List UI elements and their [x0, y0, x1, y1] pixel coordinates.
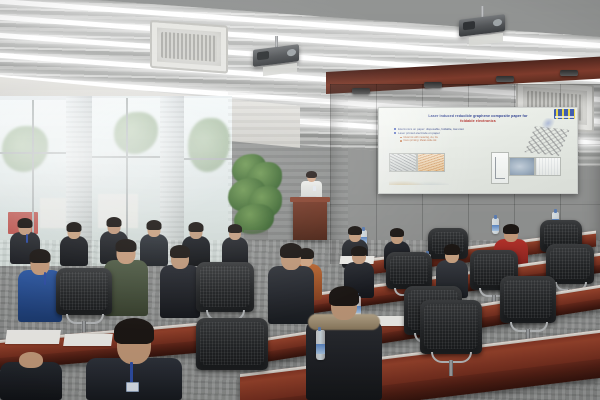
presenter-badge [313, 186, 316, 191]
attendee-hair [329, 286, 359, 306]
attendee [222, 224, 248, 266]
attendee [60, 222, 88, 266]
attendee-hair [114, 318, 154, 344]
attendee [160, 246, 200, 318]
slide-content: Laser induced reducible graphene composi… [379, 108, 577, 193]
attendee-torso [60, 236, 88, 266]
attendee-hair [444, 244, 460, 255]
attendee-head [19, 352, 43, 368]
water-bottle [316, 330, 325, 360]
recessed-ceiling-light [424, 82, 442, 88]
lanyard [130, 362, 133, 384]
university-logo-icon [554, 109, 575, 119]
projection-screen: Laser induced reducible graphene composi… [378, 107, 578, 194]
slide-figure-sem [389, 153, 417, 172]
attendee-torso [160, 265, 200, 318]
slide-figure-curve [389, 176, 449, 185]
attendee-hair [170, 245, 190, 258]
chair-mesh [424, 304, 478, 349]
lanyard [26, 234, 28, 243]
recessed-ceiling-light [560, 70, 578, 76]
chair-mesh [200, 266, 250, 307]
outdoor-foliage [114, 112, 158, 154]
recessed-ceiling-light [496, 76, 514, 82]
screen-surface: Laser induced reducible graphene composi… [379, 108, 577, 193]
slide-figure-panels [387, 153, 571, 187]
attendee-hair [280, 243, 302, 258]
ac-vent [150, 20, 228, 74]
chair-mesh [200, 322, 264, 365]
speaker-podium [293, 200, 327, 240]
bottle-label [316, 344, 325, 354]
attendee-foreground-suit [86, 318, 182, 400]
attendee-hair [189, 222, 204, 232]
attendee-hair [107, 217, 122, 227]
chair-backrest [500, 276, 556, 323]
name-badge [126, 382, 139, 392]
chair-backrest [56, 268, 112, 315]
attendee-hair [147, 220, 162, 230]
outdoor-foliage [188, 118, 230, 172]
lanyard [44, 272, 46, 285]
chair-backrest [386, 252, 432, 289]
chair-mesh [504, 280, 552, 318]
recessed-ceiling-light [352, 88, 370, 94]
attendee-hair [116, 239, 137, 252]
attendee [0, 352, 62, 400]
attendee-torso [86, 358, 182, 400]
office-chair[interactable] [420, 300, 482, 384]
presenter-hair [306, 171, 317, 178]
chair-post [449, 360, 454, 375]
chair-mesh [390, 256, 428, 284]
chair-backrest [196, 262, 254, 312]
attendee-hair [18, 218, 33, 228]
outdoor-foliage [2, 126, 48, 172]
attendee-hair [228, 224, 242, 233]
attendee-hair [503, 224, 519, 234]
conference-room-photo: Laser induced reducible graphene composi… [0, 0, 600, 400]
slide-figure-optical [417, 153, 445, 172]
slide-figure-graph [535, 157, 561, 176]
attendee-hair [351, 246, 367, 256]
handout-paper [5, 330, 61, 344]
attendee-hair [348, 226, 362, 235]
office-chair[interactable] [196, 318, 268, 400]
slide-figure-plot [491, 152, 509, 184]
ceiling-projector-left [272, 36, 280, 62]
chair-backrest [196, 318, 268, 370]
chair-mesh [550, 248, 590, 279]
chair-mesh [60, 272, 108, 310]
ceiling-projector-right [478, 6, 486, 32]
chair-backrest [420, 300, 482, 354]
attendee-hair [30, 249, 51, 263]
window-mullion [184, 158, 232, 160]
slide-figure-device [509, 157, 535, 176]
attendee-hair [67, 222, 82, 232]
attendee-hair [390, 228, 404, 237]
